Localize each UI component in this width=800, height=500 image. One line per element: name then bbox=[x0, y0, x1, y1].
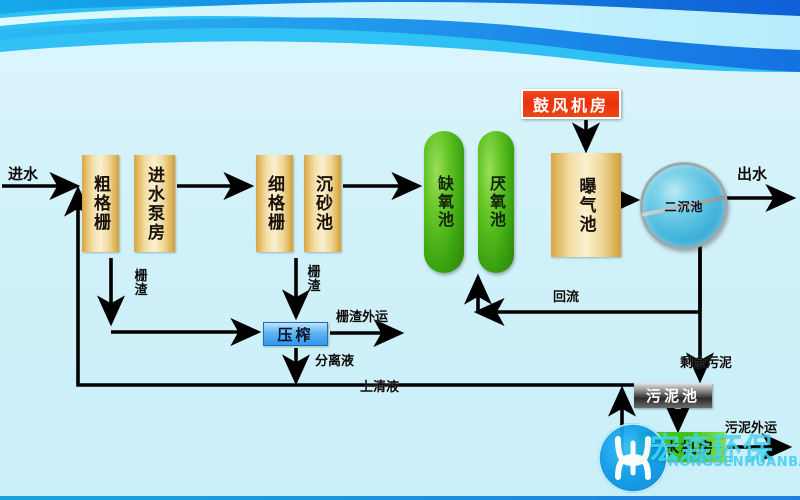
label-excess-sludge: 剩余污泥 bbox=[680, 352, 732, 371]
node-secondary-clarifier-label: 二沉池 bbox=[664, 198, 703, 215]
process-flow-diagram: 粗格栅 进水泵房 细格栅 沉砂池 缺氧池 厌氧池 曝气池 鼓风机房 压榨 污泥池… bbox=[0, 0, 800, 500]
node-coarse-screen-label: 粗格栅 bbox=[88, 175, 113, 232]
watermark-pinyin-text: HONGSENHUANBAO bbox=[668, 455, 800, 470]
node-anaerobic-tank[interactable]: 厌氧池 bbox=[478, 131, 514, 273]
node-press[interactable]: 压榨 bbox=[263, 322, 328, 346]
node-coarse-screen[interactable]: 粗格栅 bbox=[82, 155, 119, 252]
node-fine-screen[interactable]: 细格栅 bbox=[256, 155, 293, 252]
node-blower-room[interactable]: 鼓风机房 bbox=[521, 89, 621, 119]
node-aeration-tank-label: 曝气池 bbox=[574, 177, 599, 234]
label-effluent: 出水 bbox=[737, 163, 767, 184]
node-sludge-tank-label: 污泥池 bbox=[646, 385, 700, 406]
label-screenings-coarse: 栅渣 bbox=[130, 270, 152, 297]
label-return-sludge: 回流 bbox=[553, 286, 579, 305]
node-inlet-pump-house-label: 进水泵房 bbox=[142, 166, 167, 242]
label-separated-liquid: 分离液 bbox=[315, 350, 354, 369]
label-supernatant: 上清液 bbox=[360, 376, 399, 395]
footer-rule bbox=[0, 496, 800, 500]
node-fine-screen-label: 细格栅 bbox=[262, 175, 287, 232]
node-anaerobic-tank-label: 厌氧池 bbox=[484, 175, 508, 229]
node-blower-room-label: 鼓风机房 bbox=[533, 92, 609, 116]
node-anoxic-tank[interactable]: 缺氧池 bbox=[424, 131, 464, 273]
node-anoxic-tank-label: 缺氧池 bbox=[432, 175, 456, 229]
node-press-label: 压榨 bbox=[277, 324, 313, 345]
node-grit-chamber-label: 沉砂池 bbox=[310, 175, 335, 232]
node-sludge-tank[interactable]: 污泥池 bbox=[634, 383, 712, 408]
label-screenings-fine: 栅渣 bbox=[303, 266, 325, 293]
label-influent: 进水 bbox=[8, 163, 38, 184]
node-inlet-pump-house[interactable]: 进水泵房 bbox=[134, 155, 175, 252]
node-grit-chamber[interactable]: 沉砂池 bbox=[304, 155, 341, 252]
node-aeration-tank[interactable]: 曝气池 bbox=[551, 153, 621, 257]
label-screenings-transport-out: 栅渣外运 bbox=[336, 306, 388, 325]
node-secondary-clarifier[interactable]: 二沉池 bbox=[640, 162, 728, 250]
